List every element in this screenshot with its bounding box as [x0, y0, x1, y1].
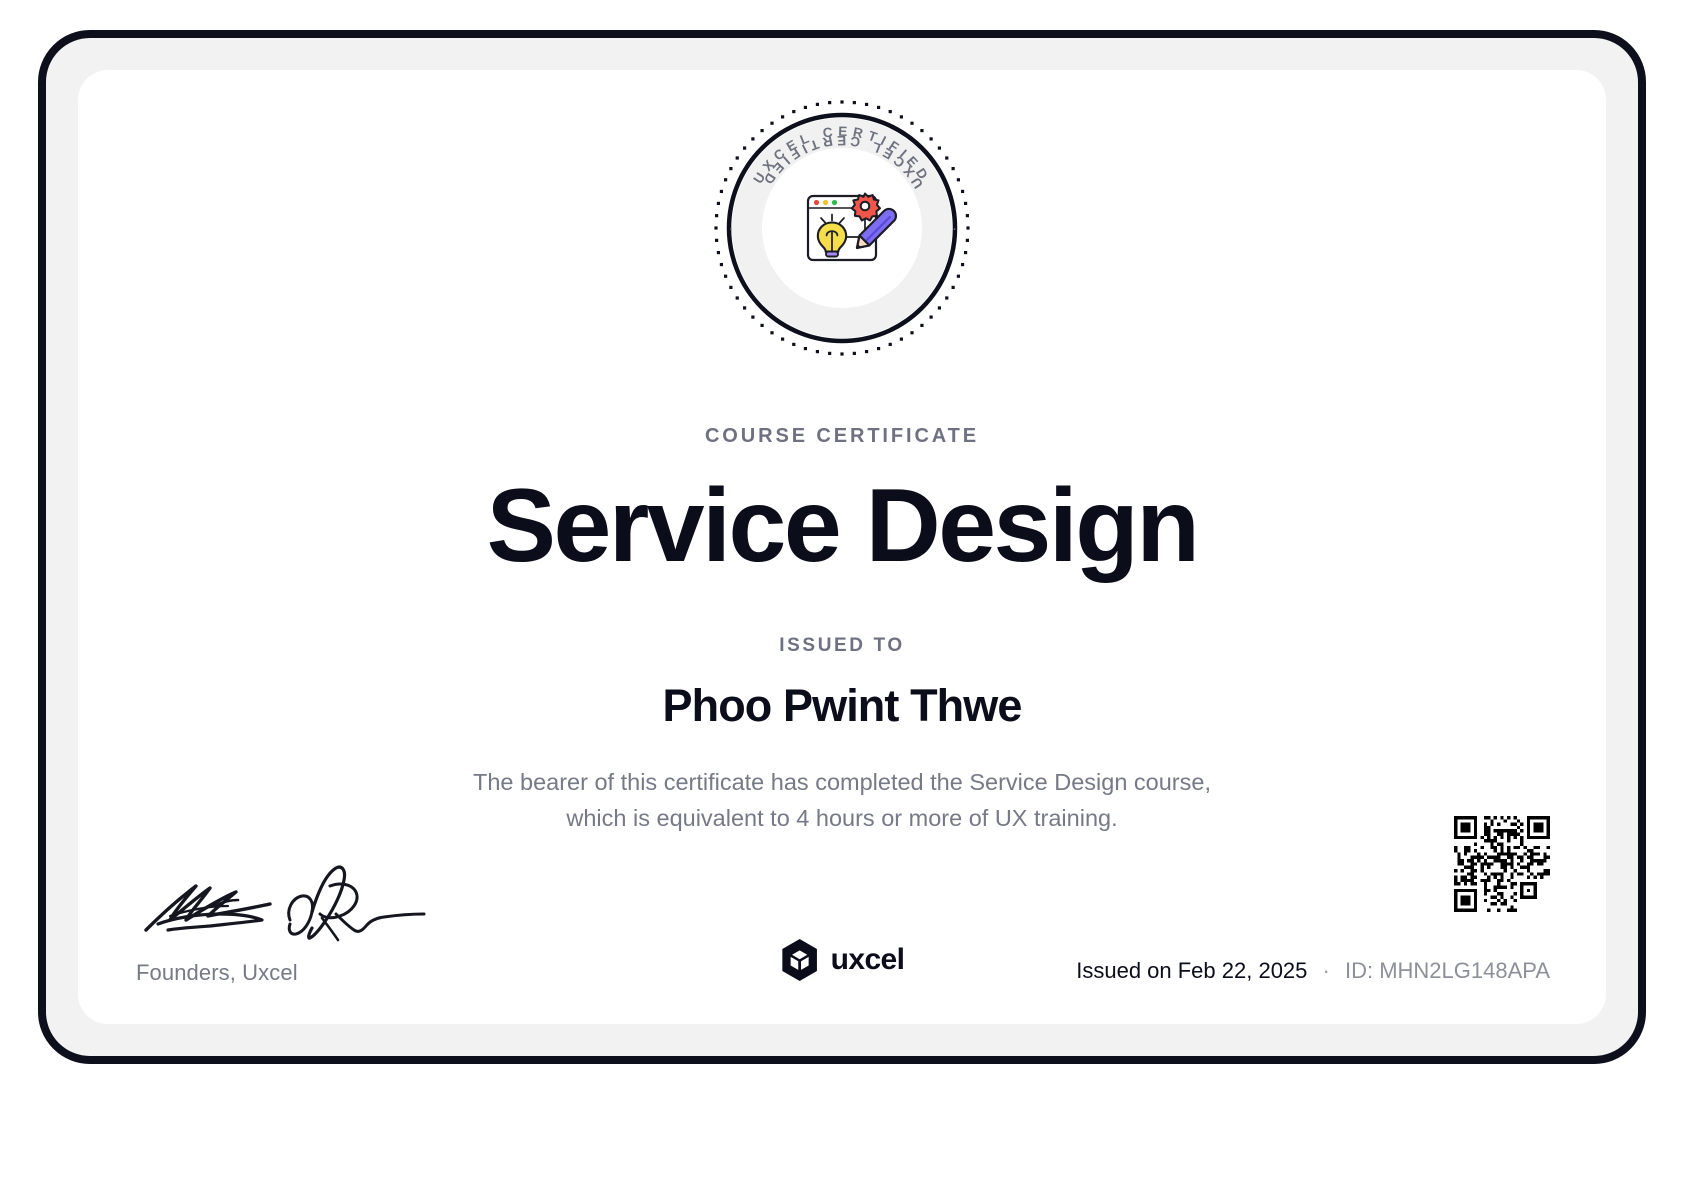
uxcel-logo: uxcel	[780, 938, 905, 982]
course-title: Service Design	[78, 470, 1606, 582]
certificate-id: ID: MHN2LG148APA	[1345, 958, 1550, 983]
uxcel-hexagon-cube-logo-icon	[780, 938, 820, 982]
signature-block: Founders, Uxcel	[136, 858, 466, 986]
signature-caption: Founders, Uxcel	[136, 960, 466, 986]
certificate-frame: UXCEL CERTIFIED UXCEL CERTIFIED · ·	[38, 30, 1646, 1064]
recipient-name: Phoo Pwint Thwe	[78, 680, 1606, 732]
qr-code[interactable]	[1454, 816, 1550, 912]
badge-bullet-right: ·	[952, 220, 957, 237]
uxcel-wordmark: uxcel	[831, 943, 905, 977]
description-line-1: The bearer of this certificate has compl…	[473, 769, 1211, 795]
badge-bullet-left: ·	[729, 220, 734, 237]
certificate-card: UXCEL CERTIFIED UXCEL CERTIFIED · ·	[78, 70, 1606, 1024]
eyebrow-course-certificate: COURSE CERTIFICATE	[78, 425, 1606, 448]
window-dot-red-icon	[814, 200, 819, 205]
founders-signatures-image	[140, 858, 440, 950]
certificate-description: The bearer of this certificate has compl…	[392, 765, 1292, 837]
issue-date: Issued on Feb 22, 2025	[1076, 958, 1307, 983]
uxcel-certified-badge: UXCEL CERTIFIED UXCEL CERTIFIED · ·	[708, 94, 976, 362]
issuance-meta: Issued on Feb 22, 2025 · ID: MHN2LG148AP…	[1076, 958, 1550, 984]
window-dot-green-icon	[832, 200, 837, 205]
meta-separator: ·	[1323, 958, 1330, 983]
eyebrow-issued-to: ISSUED TO	[78, 635, 1606, 657]
window-dot-yellow-icon	[823, 200, 828, 205]
qr-code-icon[interactable]	[1454, 816, 1550, 912]
bulb-base-icon	[826, 252, 838, 257]
description-line-2: which is equivalent to 4 hours or more o…	[566, 805, 1117, 831]
